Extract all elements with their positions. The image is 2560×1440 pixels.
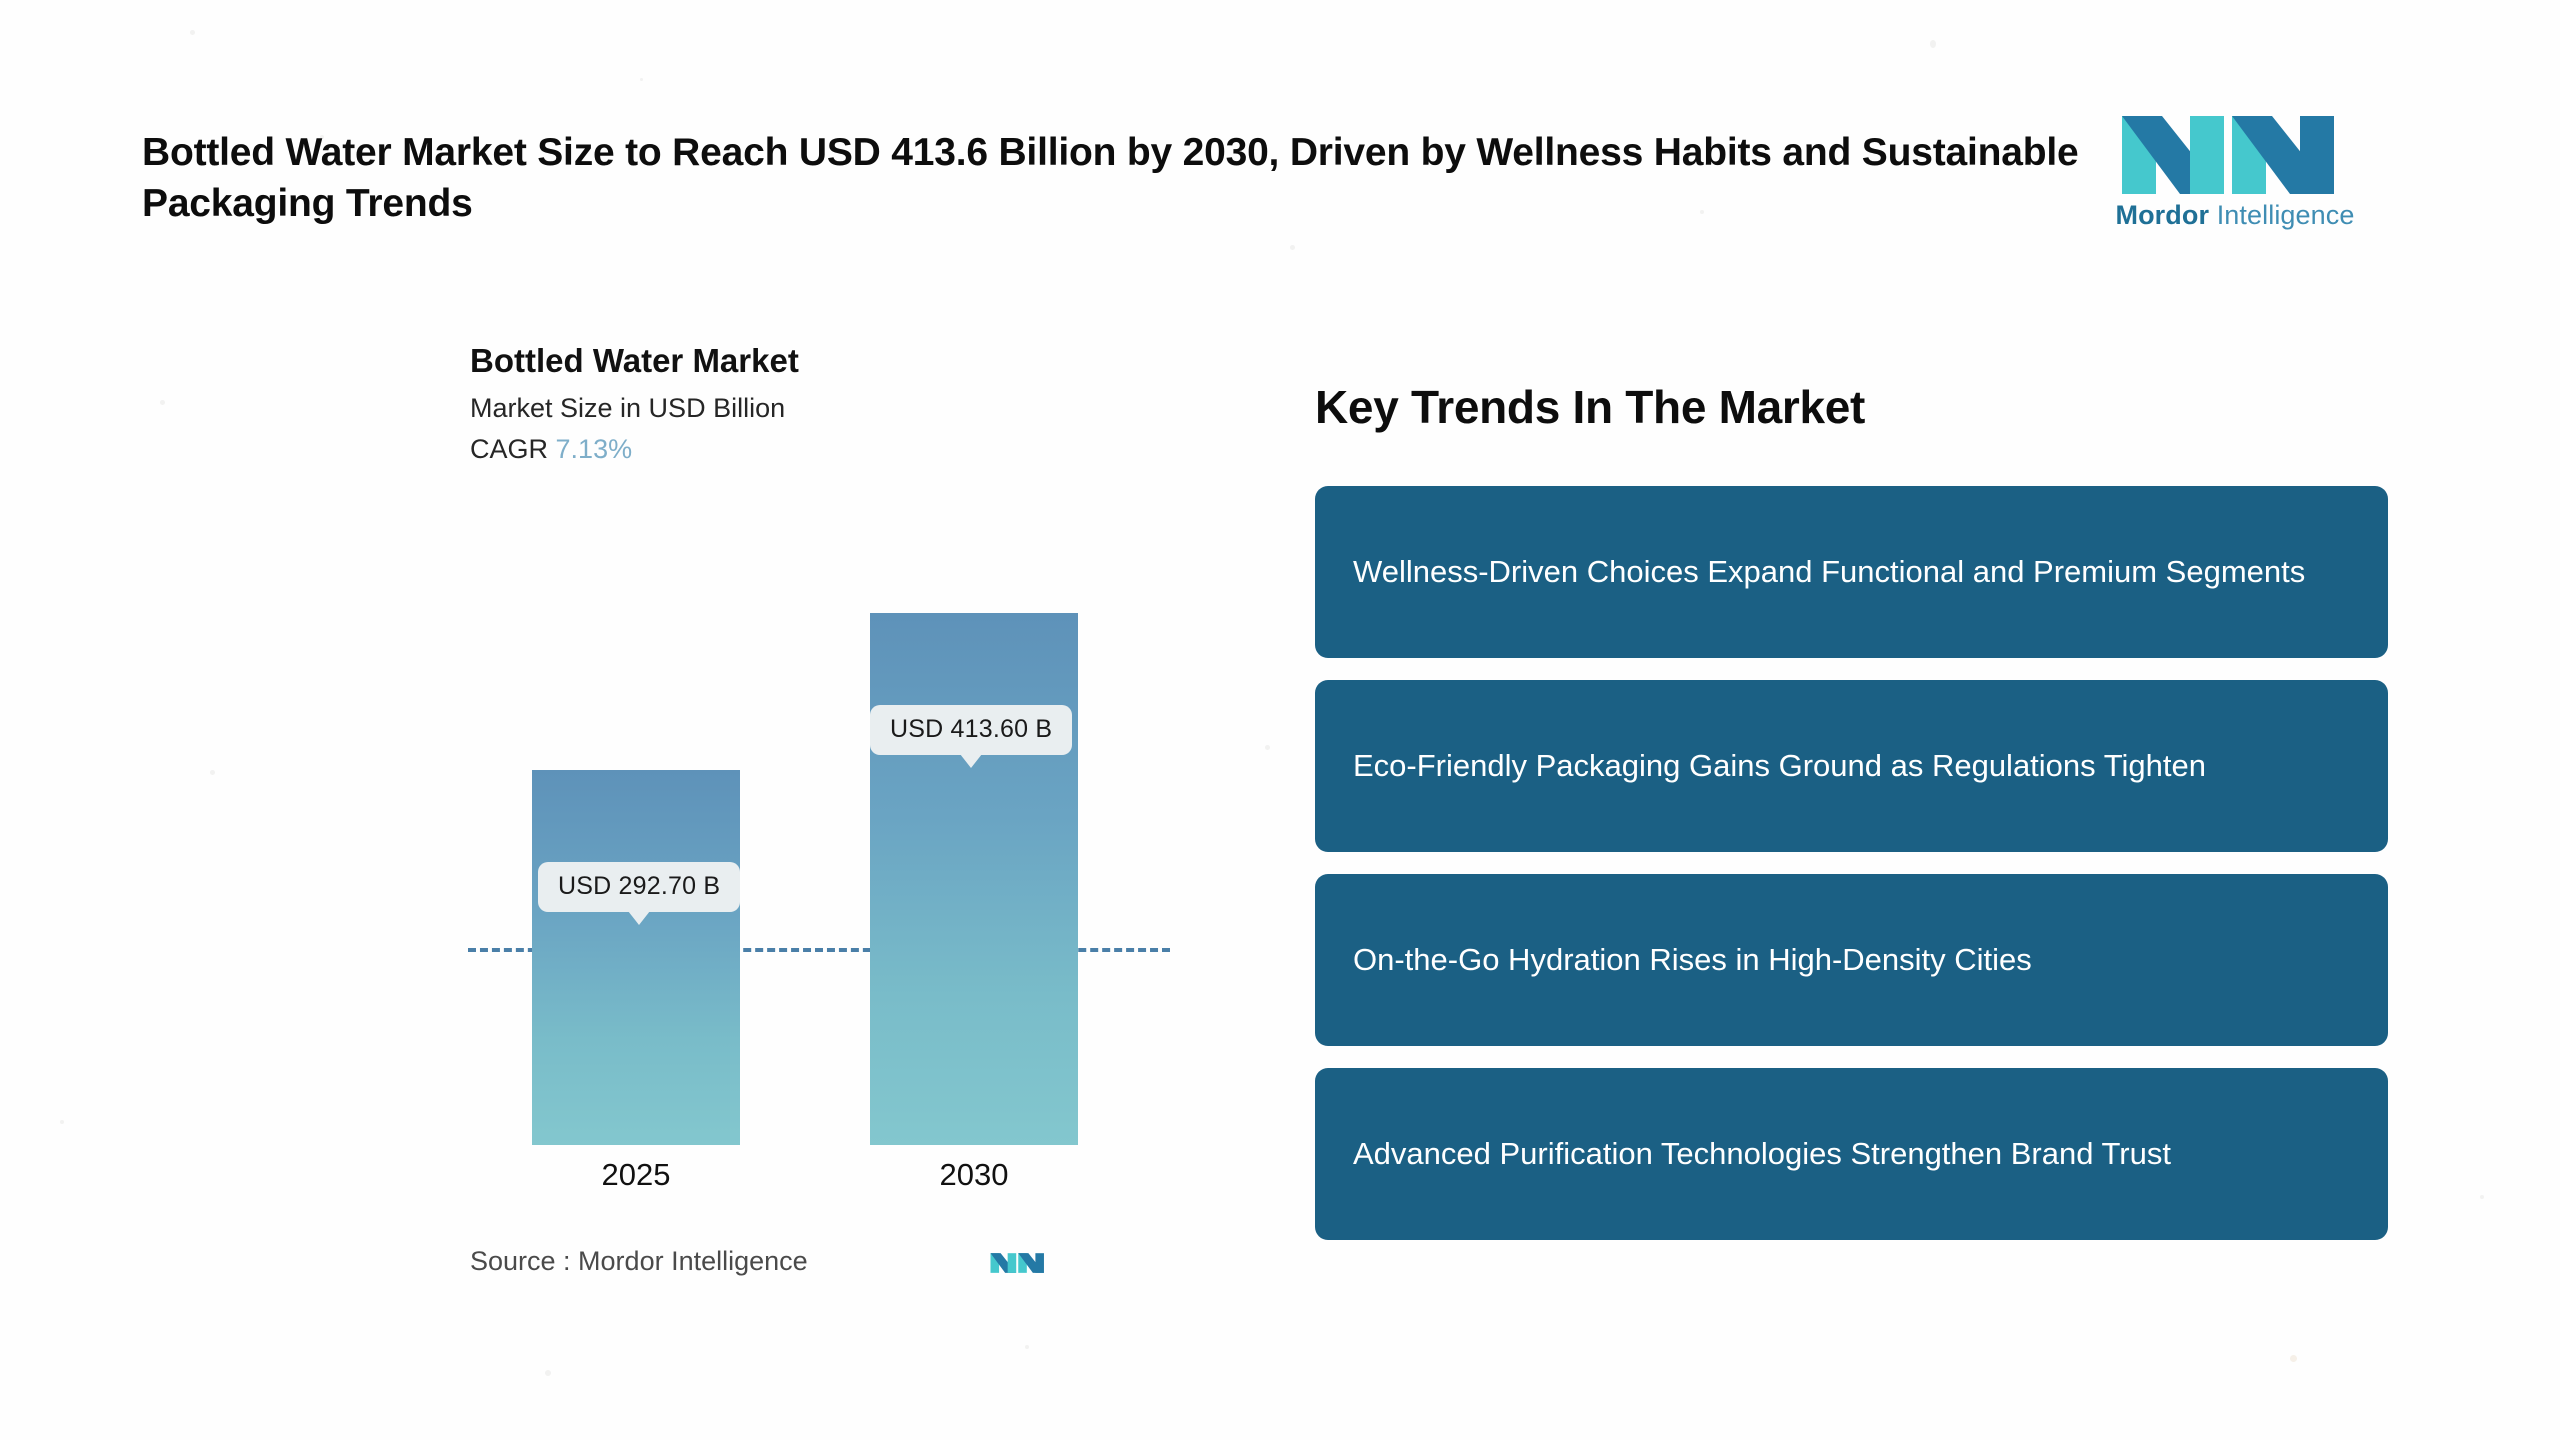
trend-card-text: Wellness-Driven Choices Expand Functiona… xyxy=(1353,550,2305,594)
trend-card: Wellness-Driven Choices Expand Functiona… xyxy=(1315,486,2388,658)
bar-chart-plot: USD 292.70 B USD 413.60 B 2025 2030 xyxy=(470,525,1230,1145)
trend-card: On-the-Go Hydration Rises in High-Densit… xyxy=(1315,874,2388,1046)
chart-cagr: CAGR 7.13% xyxy=(470,434,1230,465)
brand-name-light: Intelligence xyxy=(2209,200,2354,230)
trend-card: Eco-Friendly Packaging Gains Ground as R… xyxy=(1315,680,2388,852)
brand-logo: Mordor Intelligence xyxy=(2105,98,2365,238)
source-row: Source : Mordor Intelligence xyxy=(470,1240,1230,1282)
brand-name-bold: Mordor xyxy=(2116,200,2210,230)
brand-wordmark: Mordor Intelligence xyxy=(2105,200,2365,231)
chart-subtitle: Market Size in USD Billion xyxy=(470,393,1230,424)
trend-card-text: Eco-Friendly Packaging Gains Ground as R… xyxy=(1353,744,2206,788)
key-trends-title: Key Trends In The Market xyxy=(1315,380,2390,434)
cagr-label: CAGR xyxy=(470,434,548,464)
key-trends-panel: Key Trends In The Market Wellness-Driven… xyxy=(1315,380,2390,1262)
trend-card: Advanced Purification Technologies Stren… xyxy=(1315,1068,2388,1240)
infographic-page: Bottled Water Market Size to Reach USD 4… xyxy=(0,0,2560,1440)
cagr-value: 7.13% xyxy=(556,434,633,464)
chart-title: Bottled Water Market xyxy=(470,340,1230,381)
chart-panel: Bottled Water Market Market Size in USD … xyxy=(470,340,1230,1270)
bar-value-label-2030: USD 413.60 B xyxy=(870,705,1072,755)
page-title: Bottled Water Market Size to Reach USD 4… xyxy=(142,128,2102,229)
x-axis-label-2030: 2030 xyxy=(870,1157,1078,1193)
bar-value-label-2025: USD 292.70 B xyxy=(538,862,740,912)
bar-2025 xyxy=(532,770,740,1145)
trend-card-text: On-the-Go Hydration Rises in High-Densit… xyxy=(1353,938,2032,982)
trend-card-text: Advanced Purification Technologies Stren… xyxy=(1353,1132,2171,1176)
x-axis-label-2025: 2025 xyxy=(532,1157,740,1193)
mordor-m-logo-icon xyxy=(990,1240,1048,1282)
bar-2030 xyxy=(870,613,1078,1145)
source-text: Source : Mordor Intelligence xyxy=(470,1246,808,1277)
mordor-m-logo-icon xyxy=(2120,98,2350,196)
